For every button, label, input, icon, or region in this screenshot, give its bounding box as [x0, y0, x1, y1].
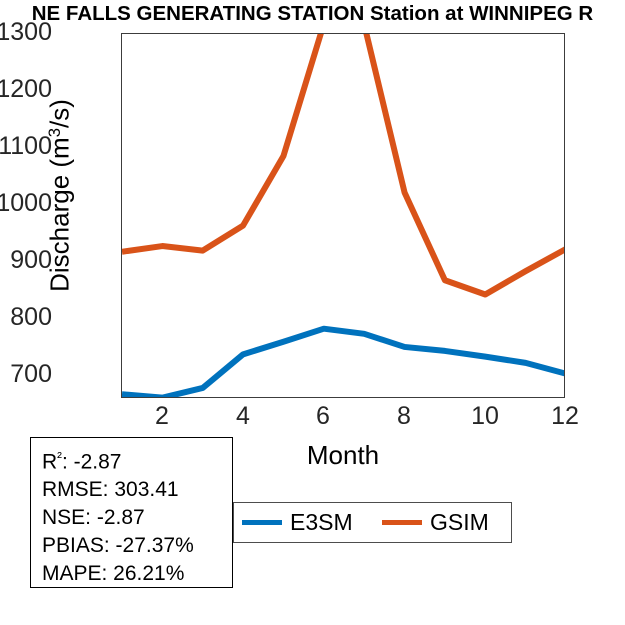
statistics-box: R²: -2.87 RMSE: 303.41 NSE: -2.87 PBIAS:…: [30, 437, 233, 588]
y-tick-label-1300: 1300: [0, 20, 52, 45]
chart-figure: NE FALLS GENERATING STATION Station at W…: [0, 0, 625, 625]
stat-mape: MAPE: 26.21%: [42, 560, 232, 588]
x-tick-label-12: 12: [525, 404, 605, 429]
y-tick-label-1100: 1100: [0, 134, 52, 159]
y-tick-label-1000: 1000: [0, 191, 52, 216]
stat-r-squared-label: R: [42, 450, 57, 473]
data-line-e3sm: [122, 329, 565, 398]
stat-pbias: PBIAS: -27.37%: [42, 532, 232, 560]
y-tick-label-900: 900: [0, 248, 52, 273]
legend: E3SM GSIM: [233, 502, 512, 543]
stat-rmse: RMSE: 303.41: [42, 476, 232, 504]
x-tick-label-8: 8: [364, 404, 444, 429]
legend-swatch-gsim: [382, 520, 422, 525]
y-axis-title-tail: /s): [45, 99, 75, 128]
data-line-gsim: [122, 34, 565, 294]
legend-label-e3sm: E3SM: [290, 511, 353, 534]
stat-r-squared-value: : -2.87: [62, 450, 122, 473]
y-tick-label-700: 700: [0, 362, 52, 387]
page-title: NE FALLS GENERATING STATION Station at W…: [0, 0, 625, 28]
legend-entry-gsim[interactable]: GSIM: [382, 503, 489, 542]
x-tick-label-10: 10: [445, 404, 525, 429]
stat-nse: NSE: -2.87: [42, 504, 232, 532]
legend-swatch-e3sm: [242, 520, 282, 525]
legend-label-gsim: GSIM: [430, 511, 489, 534]
stat-r-squared: R²: -2.87: [42, 444, 232, 476]
x-tick-label-6: 6: [283, 404, 363, 429]
y-tick-label-1200: 1200: [0, 77, 52, 102]
x-tick-label-4: 4: [203, 404, 283, 429]
y-tick-label-800: 800: [0, 305, 52, 330]
legend-entry-e3sm[interactable]: E3SM: [242, 503, 353, 542]
data-lines-svg: [122, 34, 565, 398]
x-tick-label-2: 2: [122, 404, 202, 429]
plot-area: [121, 33, 565, 398]
